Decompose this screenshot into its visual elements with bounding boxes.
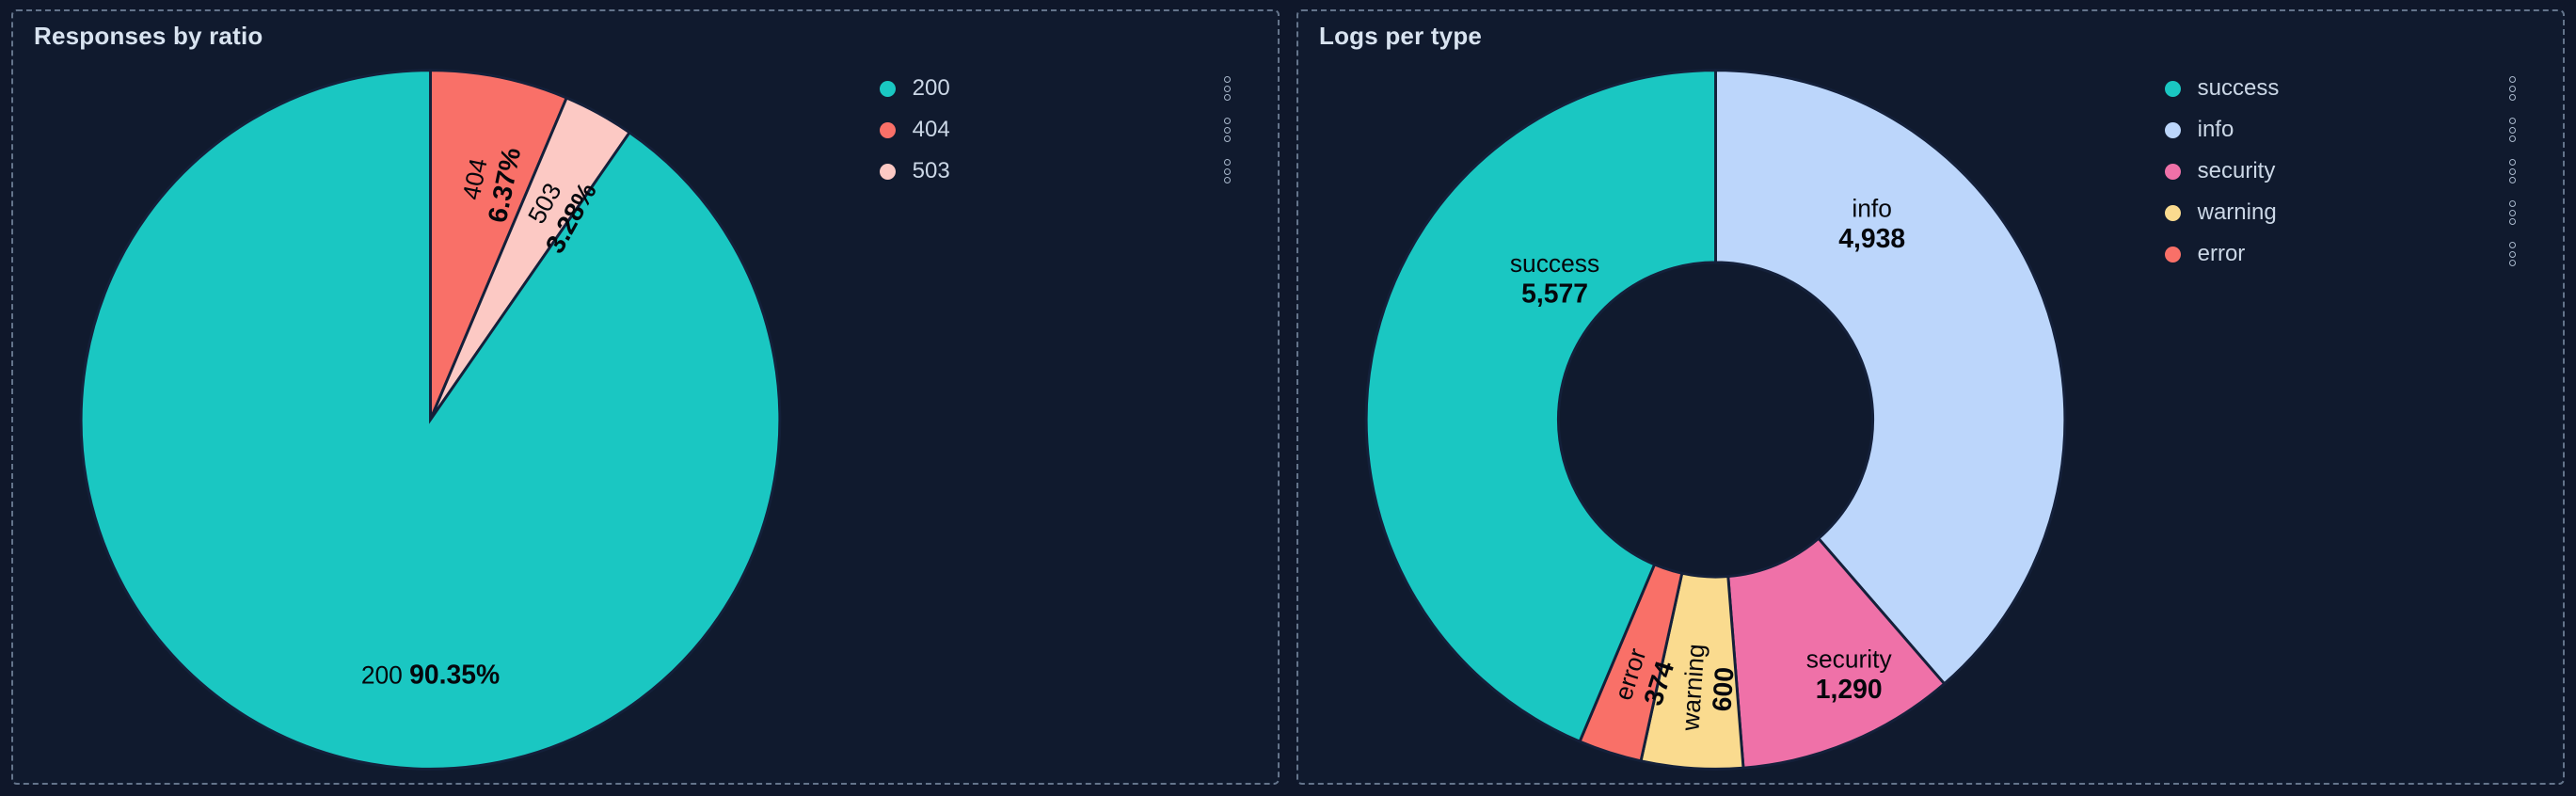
legend-color-swatch — [2165, 205, 2181, 221]
page-title: Logs per type — [1319, 24, 1482, 48]
donut-chart-logs[interactable]: info4,938security1,290warning600error374… — [1298, 56, 2133, 783]
svg-text:200 90.35%: 200 90.35% — [361, 661, 500, 691]
kebab-menu-icon[interactable] — [1219, 76, 1234, 101]
page-title: Responses by ratio — [34, 24, 262, 48]
legend-item-security[interactable]: security — [2165, 151, 2544, 192]
legend-item-200[interactable]: 200 — [880, 68, 1259, 109]
legend-item-label: warning — [2198, 201, 2277, 224]
legend-color-swatch — [2165, 122, 2181, 138]
legend-color-swatch — [2165, 81, 2181, 97]
svg-text:security1,290: security1,290 — [1806, 645, 1893, 705]
legend-item-label: success — [2198, 77, 2280, 100]
legend-logs: success info security warning — [2165, 68, 2544, 275]
pie-chart-svg[interactable]: 4046.37%5033.28%200 90.35% — [13, 56, 848, 783]
kebab-menu-icon[interactable] — [2504, 242, 2520, 266]
legend-item-warning[interactable]: warning — [2165, 192, 2544, 233]
legend-color-swatch — [880, 164, 896, 180]
legend-item-label: 200 — [913, 77, 950, 100]
panel-body: 4046.37%5033.28%200 90.35% 200 404 503 — [13, 56, 1278, 783]
legend-item-error[interactable]: error — [2165, 233, 2544, 275]
legend-color-swatch — [2165, 164, 2181, 180]
slice-label-200: 200 90.35% — [361, 661, 500, 691]
legend-item-info[interactable]: info — [2165, 109, 2544, 151]
dashboard-root: Responses by ratio 4046.37%5033.28%200 9… — [0, 0, 2576, 796]
legend-item-label: info — [2198, 119, 2234, 141]
slice-label-security: security1,290 — [1806, 645, 1893, 705]
kebab-menu-icon[interactable] — [2504, 118, 2520, 142]
panel-responses-by-ratio: Responses by ratio 4046.37%5033.28%200 9… — [11, 9, 1280, 785]
panel-logs-per-type: Logs per type info4,938security1,290warn… — [1296, 9, 2565, 785]
legend-item-label: 503 — [913, 160, 950, 183]
legend-color-swatch — [880, 81, 896, 97]
panel-body: info4,938security1,290warning600error374… — [1298, 56, 2563, 783]
panel-header: Logs per type — [1298, 11, 2563, 60]
legend-item-503[interactable]: 503 — [880, 151, 1259, 192]
legend-item-label: error — [2198, 243, 2246, 265]
legend-color-swatch — [880, 122, 896, 138]
donut-chart-svg[interactable]: info4,938security1,290warning600error374… — [1298, 56, 2133, 783]
legend-item-label: 404 — [913, 119, 950, 141]
kebab-menu-icon[interactable] — [1219, 118, 1234, 142]
svg-text:success5,577: success5,577 — [1510, 249, 1599, 310]
pie-chart-responses[interactable]: 4046.37%5033.28%200 90.35% — [13, 56, 848, 783]
kebab-menu-icon[interactable] — [2504, 76, 2520, 101]
slice-label-success: success5,577 — [1510, 249, 1599, 310]
legend-item-404[interactable]: 404 — [880, 109, 1259, 151]
kebab-menu-icon[interactable] — [2504, 200, 2520, 225]
legend-item-label: security — [2198, 160, 2276, 183]
kebab-menu-icon[interactable] — [2504, 159, 2520, 183]
legend-color-swatch — [2165, 247, 2181, 263]
panel-header: Responses by ratio — [13, 11, 1278, 60]
legend-responses: 200 404 503 — [880, 68, 1259, 192]
kebab-menu-icon[interactable] — [1219, 159, 1234, 183]
legend-item-success[interactable]: success — [2165, 68, 2544, 109]
